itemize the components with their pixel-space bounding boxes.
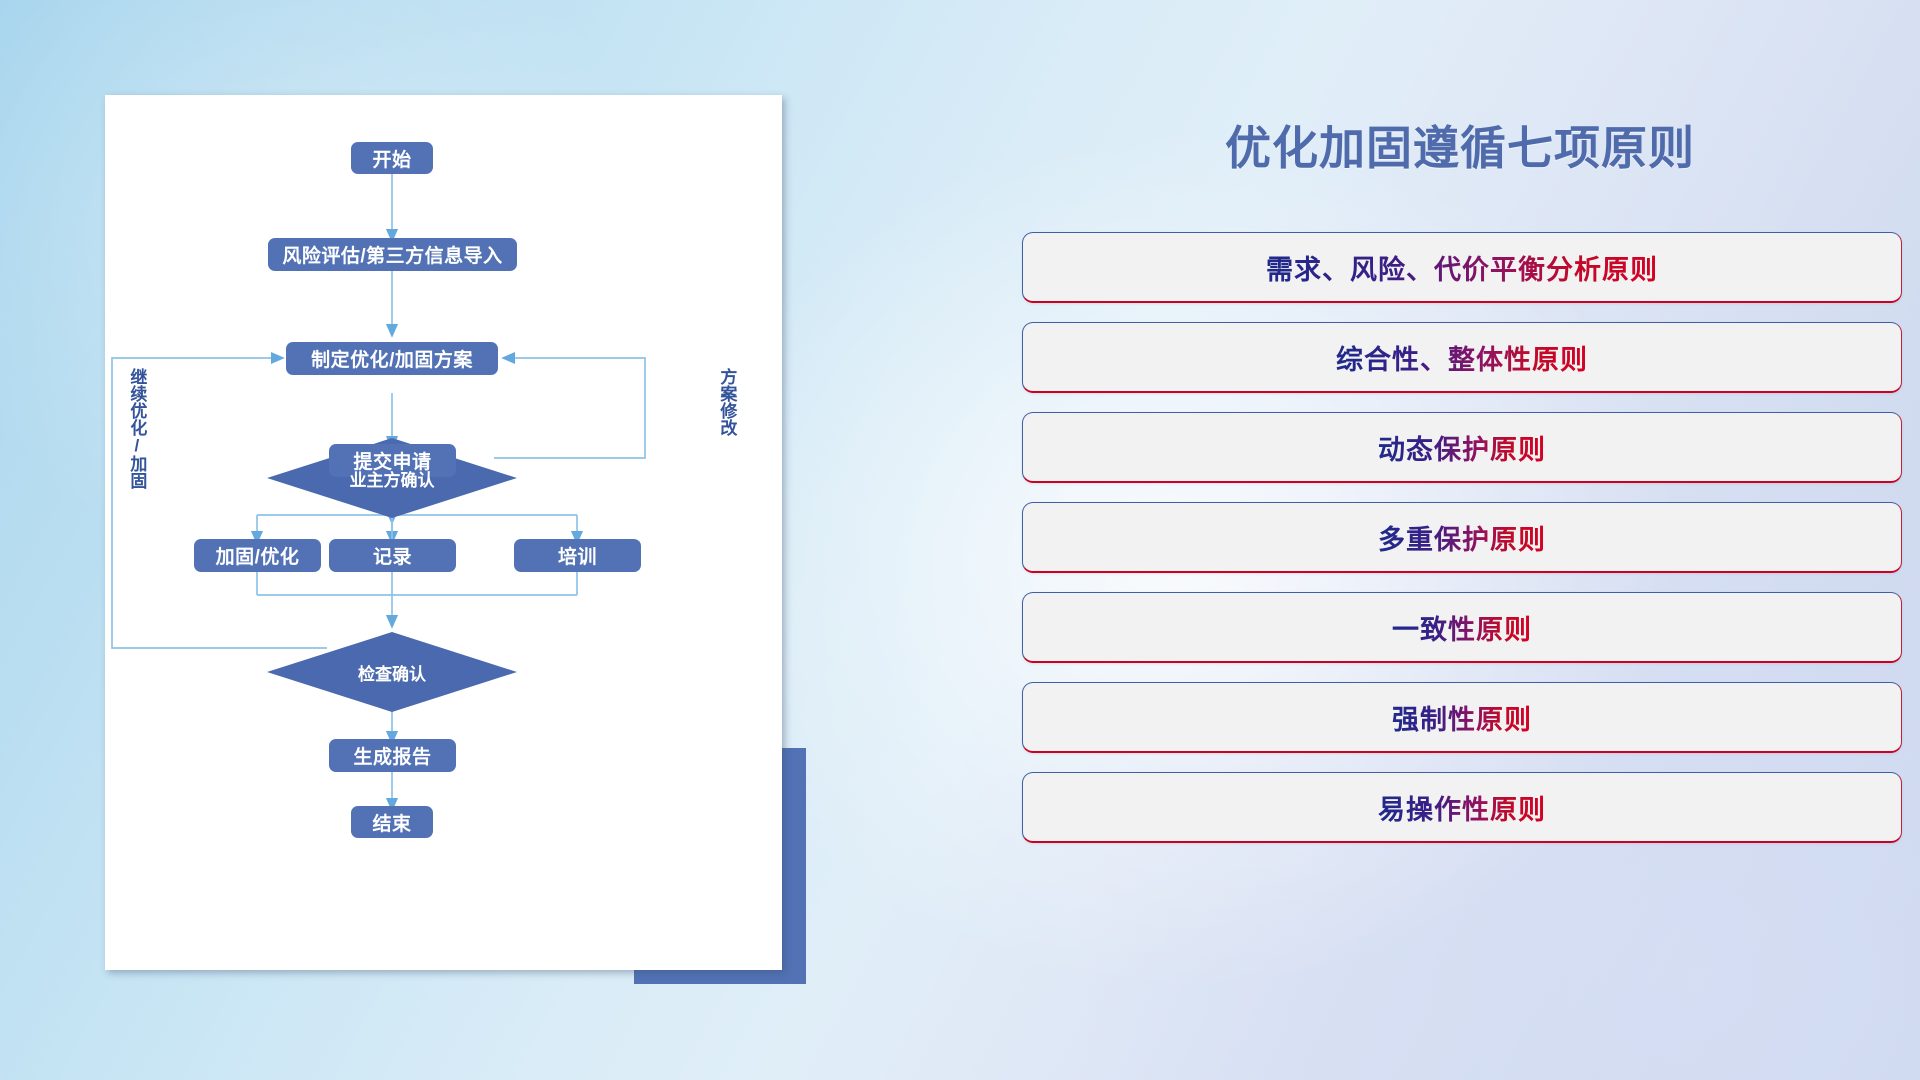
- flow-node-label: 生成报告: [353, 742, 431, 769]
- principle-label: 多重保护原则: [1378, 518, 1546, 557]
- flow-node-label: 加固/优化: [216, 542, 300, 569]
- principle-item[interactable]: 综合性、整体性原则: [1022, 322, 1902, 393]
- flow-node-label: 结束: [372, 809, 411, 836]
- principle-label: 需求、风险、代价平衡分析原则: [1266, 248, 1658, 287]
- principle-item[interactable]: 需求、风险、代价平衡分析原则: [1022, 232, 1902, 303]
- flow-node-submit-application[interactable]: 提交申请: [329, 444, 456, 477]
- principle-item[interactable]: 一致性原则: [1022, 592, 1902, 663]
- flow-node-training[interactable]: 培训: [514, 539, 641, 572]
- flow-node-end[interactable]: 结束: [351, 806, 433, 838]
- flow-node-label: 记录: [373, 542, 412, 569]
- principle-label: 动态保护原则: [1378, 428, 1546, 467]
- edge-label-plan-revision: 方案修改: [718, 368, 735, 436]
- flow-node-plan[interactable]: 制定优化/加固方案: [286, 342, 498, 375]
- edge-label-continue-optimize: 继续优化/加固: [128, 368, 145, 489]
- principle-label: 强制性原则: [1392, 698, 1532, 737]
- principle-label: 易操作性原则: [1378, 788, 1546, 827]
- principles-panel: 优化加固遵循七项原则 需求、风险、代价平衡分析原则 综合性、整体性原则 动态保护…: [1000, 0, 1920, 1080]
- flow-node-record[interactable]: 记录: [329, 539, 456, 572]
- principle-label: 一致性原则: [1392, 608, 1532, 647]
- flow-node-start[interactable]: 开始: [351, 142, 433, 174]
- flowchart-connectors: [105, 95, 782, 970]
- principle-label: 综合性、整体性原则: [1336, 338, 1588, 377]
- principle-item[interactable]: 动态保护原则: [1022, 412, 1902, 483]
- principles-list: 需求、风险、代价平衡分析原则 综合性、整体性原则 动态保护原则 多重保护原则 一…: [1022, 232, 1902, 862]
- check-decision-shape: [267, 632, 517, 712]
- principle-item[interactable]: 多重保护原则: [1022, 502, 1902, 573]
- flowchart-card: 开始 风险评估/第三方信息导入 制定优化/加固方案 提交申请 业主方确认 加固/…: [105, 95, 782, 970]
- slide-root: 开始 风险评估/第三方信息导入 制定优化/加固方案 提交申请 业主方确认 加固/…: [0, 0, 1920, 1080]
- flow-node-label: 风险评估/第三方信息导入: [282, 241, 502, 268]
- flow-node-risk-assessment[interactable]: 风险评估/第三方信息导入: [268, 238, 517, 271]
- flow-node-label: 制定优化/加固方案: [311, 345, 473, 372]
- principle-item[interactable]: 易操作性原则: [1022, 772, 1902, 843]
- flowchart-canvas: 开始 风险评估/第三方信息导入 制定优化/加固方案 提交申请 业主方确认 加固/…: [105, 95, 782, 970]
- flow-node-reinforce[interactable]: 加固/优化: [194, 539, 321, 572]
- flow-node-label: 开始: [372, 145, 411, 172]
- flowchart-panel: 开始 风险评估/第三方信息导入 制定优化/加固方案 提交申请 业主方确认 加固/…: [0, 0, 1000, 1080]
- principle-item[interactable]: 强制性原则: [1022, 682, 1902, 753]
- flow-node-generate-report[interactable]: 生成报告: [329, 739, 456, 772]
- flow-node-label: 培训: [558, 542, 597, 569]
- page-title: 优化加固遵循七项原则: [1000, 112, 1920, 178]
- flow-node-label: 提交申请: [353, 447, 431, 474]
